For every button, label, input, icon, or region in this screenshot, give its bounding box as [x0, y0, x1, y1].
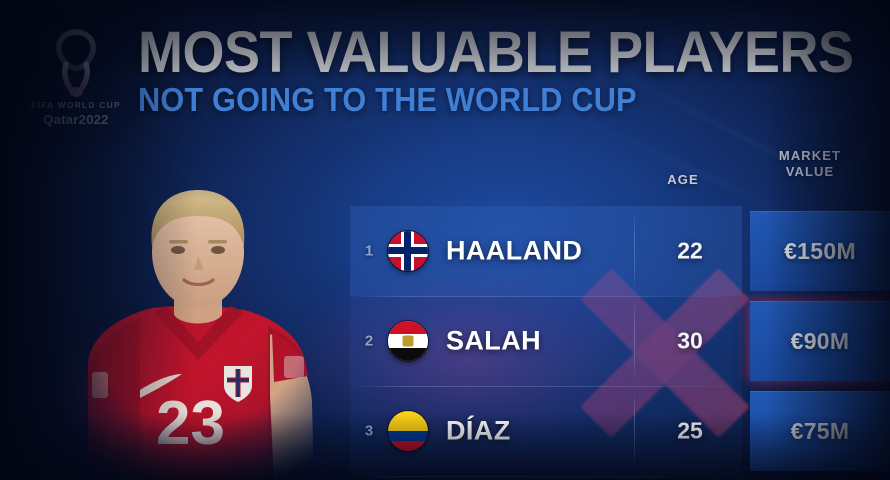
infographic-canvas: FIFA WORLD CUP Qatar2022 MOST VALUABLE P… [0, 0, 890, 480]
vignette-overlay [0, 0, 890, 480]
